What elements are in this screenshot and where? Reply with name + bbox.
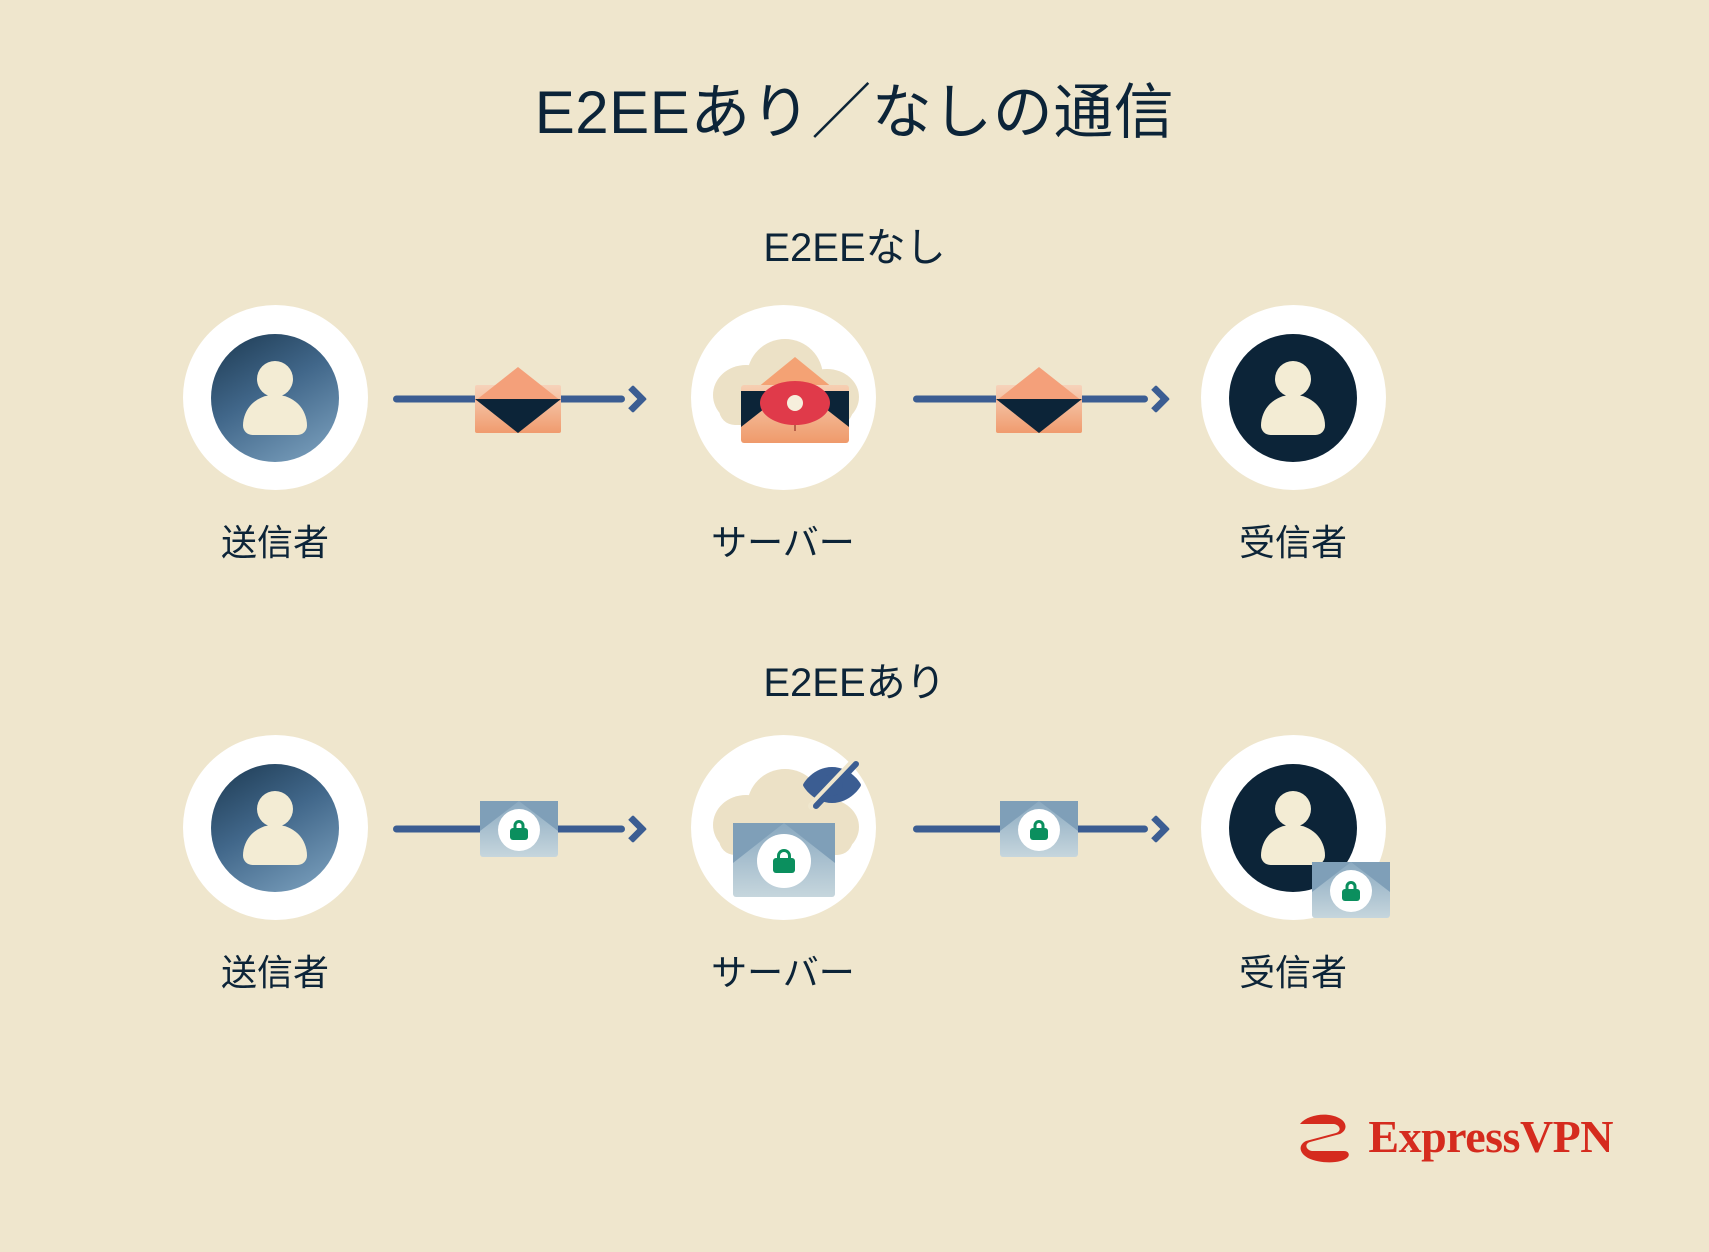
locked-envelope-e2ee-1 — [480, 801, 558, 857]
person-glyph — [239, 791, 311, 865]
locked-envelope-icon-2 — [1000, 801, 1078, 857]
person-body — [1261, 825, 1325, 865]
receiver-circle-e2ee — [1201, 735, 1386, 920]
person-body — [243, 395, 307, 435]
padlock-body — [1342, 889, 1360, 901]
logo-text: ExpressVPN — [1368, 1114, 1613, 1160]
person-head — [257, 361, 293, 397]
surveillance-eye-icon — [760, 381, 830, 425]
receiver-circle-plain — [1201, 305, 1386, 490]
padlock-icon — [773, 849, 795, 873]
avatar-sender-icon — [211, 334, 339, 462]
padlock-body — [1030, 828, 1048, 840]
delivered-locked-envelope-icon — [1312, 862, 1390, 918]
locked-envelope-received — [1312, 862, 1390, 918]
cloud-server-eye-icon — [741, 357, 849, 443]
node-label-server-plain: サーバー — [683, 514, 883, 566]
flow-row-plain: 送信者 — [0, 305, 1709, 565]
padlock-body — [773, 858, 795, 873]
envelope-flap-back — [996, 367, 1082, 401]
avatar-receiver-icon — [1229, 334, 1357, 462]
server-circle-plain — [691, 305, 876, 490]
node-label-receiver-e2ee: 受信者 — [1193, 944, 1393, 996]
envelope-flap-front — [996, 399, 1082, 433]
envelope-with-eye — [741, 357, 849, 443]
section-heading-e2ee: E2EEあり — [0, 650, 1709, 708]
person-head — [1275, 361, 1311, 397]
node-server-plain[interactable]: サーバー — [683, 305, 883, 566]
eye-slash-icon — [798, 759, 866, 811]
arrow-head — [1142, 385, 1170, 413]
expressvpn-mark-icon — [1292, 1108, 1354, 1166]
padlock-body — [510, 828, 528, 840]
section-heading-plain: E2EEなし — [0, 215, 1709, 273]
node-receiver-plain[interactable]: 受信者 — [1193, 305, 1393, 566]
person-body — [243, 825, 307, 865]
open-envelope-plain-2 — [996, 367, 1082, 433]
lock-badge — [1018, 809, 1060, 851]
node-receiver-e2ee[interactable]: 受信者 — [1193, 735, 1393, 996]
eye-pupil — [787, 395, 803, 411]
arrow-head — [619, 815, 647, 843]
open-envelope-icon-1 — [475, 367, 561, 433]
server-circle-e2ee — [691, 735, 876, 920]
person-glyph — [1257, 361, 1329, 435]
person-glyph — [239, 361, 311, 435]
padlock-icon — [1342, 881, 1360, 901]
sender-circle-plain — [183, 305, 368, 490]
lock-badge — [757, 834, 811, 888]
page-title: E2EEあり／なしの通信 — [0, 78, 1709, 147]
envelope-flap-front — [475, 399, 561, 433]
lock-badge — [1330, 870, 1372, 912]
node-server-e2ee[interactable]: サーバー — [683, 735, 883, 996]
node-label-server-e2ee: サーバー — [683, 944, 883, 996]
locked-envelope-server — [733, 823, 835, 897]
lock-badge — [498, 809, 540, 851]
open-envelope-icon-2 — [996, 367, 1082, 433]
sender-circle-e2ee — [183, 735, 368, 920]
flow-row-e2ee: 送信者 — [0, 735, 1709, 995]
node-label-receiver-plain: 受信者 — [1193, 514, 1393, 566]
node-sender-plain[interactable]: 送信者 — [175, 305, 375, 566]
envelope-flap-back — [475, 367, 561, 401]
person-head — [257, 791, 293, 827]
padlock-icon — [510, 820, 528, 840]
person-body — [1261, 395, 1325, 435]
person-head — [1275, 791, 1311, 827]
locked-envelope-e2ee-2 — [1000, 801, 1078, 857]
cloud-server-hidden-icon — [733, 823, 835, 897]
arrow-head — [1142, 815, 1170, 843]
padlock-icon — [1030, 820, 1048, 840]
infographic-canvas: E2EEあり／なしの通信 E2EEなし 送信者 — [0, 0, 1709, 1252]
avatar-sender-icon — [211, 764, 339, 892]
expressvpn-logo[interactable]: ExpressVPN — [1292, 1108, 1613, 1166]
locked-envelope-icon-1 — [480, 801, 558, 857]
person-glyph — [1257, 791, 1329, 865]
node-label-sender-e2ee: 送信者 — [175, 944, 375, 996]
arrow-head — [619, 385, 647, 413]
node-sender-e2ee[interactable]: 送信者 — [175, 735, 375, 996]
open-envelope-plain-1 — [475, 367, 561, 433]
node-label-sender-plain: 送信者 — [175, 514, 375, 566]
